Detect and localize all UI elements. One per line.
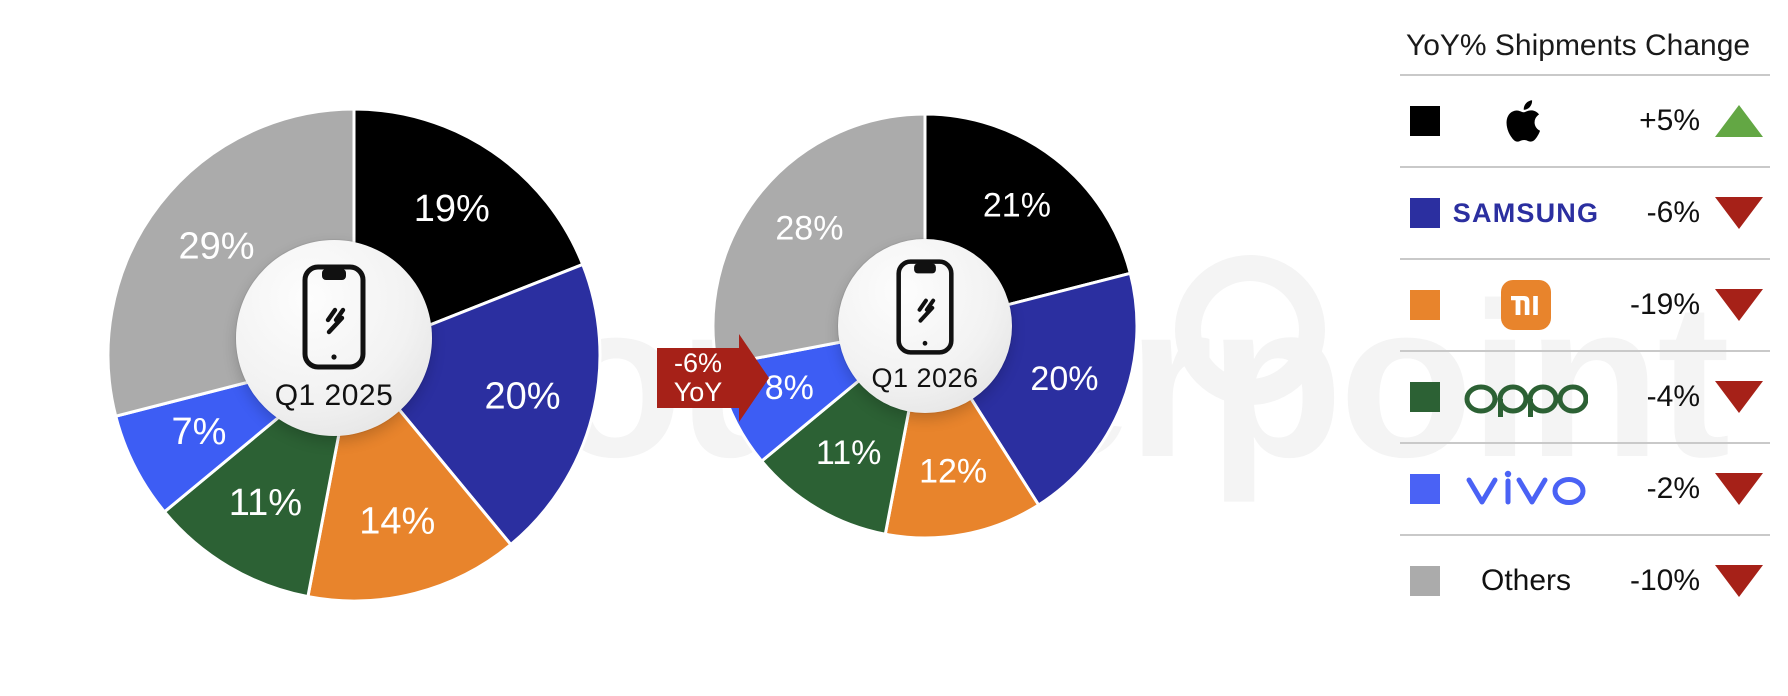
legend-value-xiaomi: -19% — [1612, 288, 1708, 322]
triangle-down-icon — [1713, 561, 1765, 601]
legend-swatch-oppo — [1410, 382, 1440, 412]
legend-logo-vivo — [1440, 461, 1612, 517]
legend-value-vivo: -2% — [1612, 472, 1708, 506]
yoy-change-arrow: -6% YoY — [657, 334, 769, 427]
apple-logo-icon — [1503, 94, 1549, 148]
pie-slice-label: 20% — [1030, 360, 1098, 398]
legend-value-apple: +5% — [1612, 104, 1708, 138]
chart-canvas: counterpoint 19%20%14%11%7%29% Q1 2025 -… — [0, 0, 1788, 696]
legend-panel: YoY% Shipments Change +5% — [1400, 22, 1770, 626]
legend-row-samsung[interactable]: SAMSUNG -6% — [1400, 166, 1770, 258]
triangle-down-icon — [1713, 193, 1765, 233]
donut-center-hub-left: Q1 2025 — [236, 240, 432, 436]
pie-slice-label: 14% — [359, 501, 435, 543]
legend-row-others[interactable]: Others -10% — [1400, 534, 1770, 626]
legend-row-oppo[interactable]: -4% — [1400, 350, 1770, 442]
others-label: Others — [1481, 564, 1571, 598]
smartphone-icon — [895, 258, 955, 356]
legend-logo-apple — [1440, 93, 1612, 149]
pie-slice-label: 11% — [229, 482, 302, 524]
triangle-down-icon — [1713, 469, 1765, 509]
legend-swatch-others — [1410, 566, 1440, 596]
vivo-wordmark-icon — [1464, 469, 1588, 509]
legend-logo-samsung: SAMSUNG — [1440, 185, 1612, 241]
pie-slice-label: 7% — [172, 411, 227, 453]
donut-center-label-left: Q1 2025 — [275, 379, 394, 413]
pie-slice-label: 8% — [765, 369, 814, 407]
legend-trend-vivo — [1708, 469, 1770, 509]
legend-logo-oppo — [1440, 369, 1612, 425]
xiaomi-mi-logo-icon — [1499, 278, 1553, 332]
arrow-label-value: -6% — [674, 349, 722, 378]
legend-trend-others — [1708, 561, 1770, 601]
legend-trend-oppo — [1708, 377, 1770, 417]
donut-center-label-right: Q1 2026 — [871, 363, 978, 394]
arrow-label-period: YoY — [674, 378, 723, 407]
legend-value-oppo: -4% — [1612, 380, 1708, 414]
triangle-down-icon — [1713, 285, 1765, 325]
legend-row-xiaomi[interactable]: -19% — [1400, 258, 1770, 350]
legend-row-vivo[interactable]: -2% — [1400, 442, 1770, 534]
watermark-ring — [1175, 255, 1325, 405]
pie-slice-label: 21% — [983, 186, 1051, 224]
legend-trend-samsung — [1708, 193, 1770, 233]
pie-slice-label: 20% — [485, 375, 561, 417]
legend-logo-xiaomi — [1440, 277, 1612, 333]
legend-swatch-vivo — [1410, 474, 1440, 504]
legend-swatch-xiaomi — [1410, 290, 1440, 320]
legend-trend-xiaomi — [1708, 285, 1770, 325]
donut-center-hub-right: Q1 2026 — [838, 239, 1012, 413]
legend-value-others: -10% — [1612, 564, 1708, 598]
legend-swatch-apple — [1410, 106, 1440, 136]
triangle-down-icon — [1713, 377, 1765, 417]
pie-slice-label: 19% — [414, 188, 490, 230]
pie-slice-label: 29% — [178, 225, 254, 267]
legend-title: YoY% Shipments Change — [1386, 22, 1770, 70]
pie-slice-label: 11% — [816, 434, 882, 472]
smartphone-icon — [301, 263, 367, 371]
legend-rows: +5% SAMSUNG -6% — [1400, 74, 1770, 626]
legend-swatch-samsung — [1410, 198, 1440, 228]
triangle-up-icon — [1713, 101, 1765, 141]
samsung-wordmark: SAMSUNG — [1453, 198, 1599, 229]
legend-logo-others: Others — [1440, 553, 1612, 609]
legend-value-samsung: -6% — [1612, 196, 1708, 230]
legend-trend-apple — [1708, 101, 1770, 141]
pie-slice-label: 12% — [919, 452, 987, 490]
oppo-wordmark-icon — [1464, 377, 1588, 417]
legend-row-apple[interactable]: +5% — [1400, 74, 1770, 166]
pie-slice-label: 28% — [775, 209, 843, 247]
